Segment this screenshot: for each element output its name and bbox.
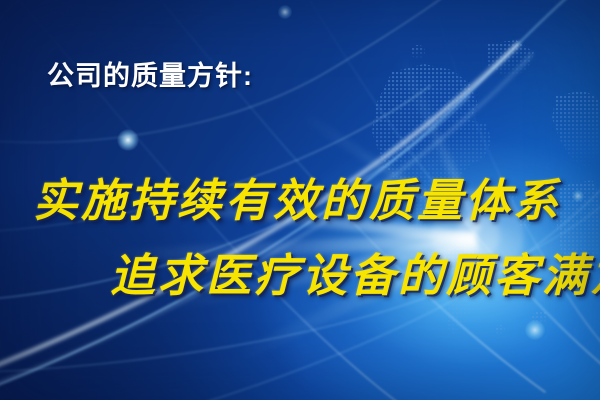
network-node-top: [278, 5, 292, 19]
policy-line-1: 实施持续有效的质量体系: [33, 164, 561, 229]
network-node-right: [525, 320, 545, 340]
network-node-far-right: [572, 190, 584, 202]
page-title: 公司的质量方针:: [47, 54, 253, 93]
network-node-upper-left: [117, 129, 139, 151]
policy-line-2: 追求医疗设备的顾客满意: [110, 239, 600, 304]
quality-policy-slide: 公司的质量方针: 实施持续有效的质量体系 追求医疗设备的顾客满意: [0, 0, 600, 400]
